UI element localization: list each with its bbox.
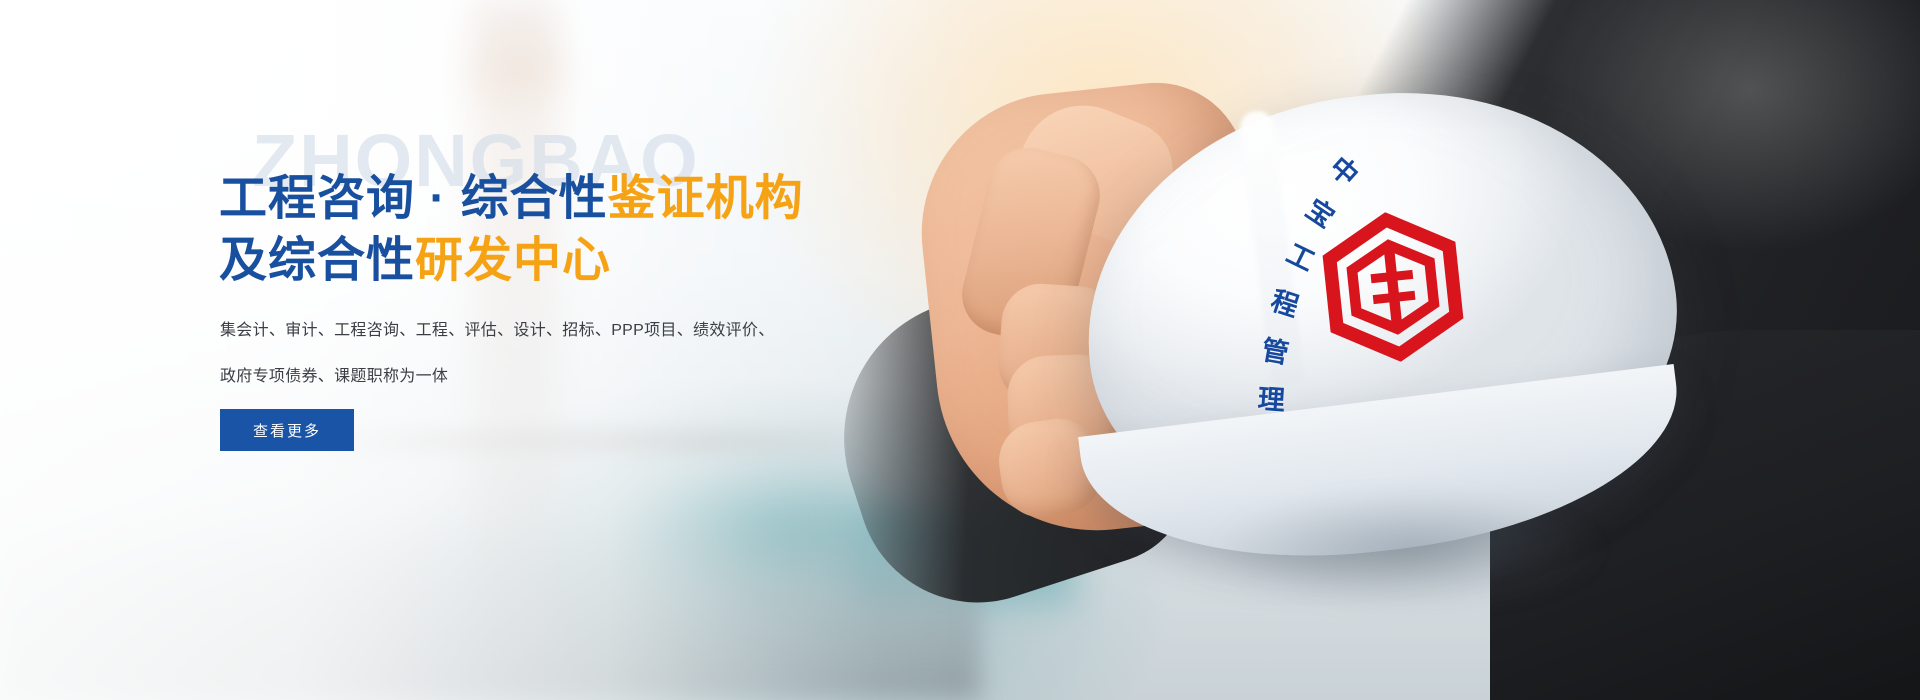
headline-line-1: 工程咨询 · 综合性鉴证机构 (219, 168, 804, 230)
headline-line-1-orange: 鉴证机构 (608, 172, 804, 225)
zhongbao-hexagon-logo-icon (1311, 205, 1476, 370)
helmet-shadow (1150, 470, 1670, 630)
page-title: 工程咨询 · 综合性鉴证机构 及综合性研发中心 (219, 168, 804, 292)
view-more-button[interactable]: 查看更多 (220, 409, 354, 451)
hero-content: ZHONGBAO 工程咨询 · 综合性鉴证机构 及综合性研发中心 集会计、审计、… (219, 0, 1039, 700)
hero-banner: 中 宝 工 程 管 理 ZHONGBAO 工程咨询 · 综合性鉴证机构 及综合性… (0, 0, 1920, 700)
headline-line-2-orange: 研发中心 (415, 234, 611, 287)
headline-line-1-blue: 工程咨询 · 综合性 (219, 172, 608, 225)
description-line-1: 集会计、审计、工程咨询、工程、评估、设计、招标、PPP项目、绩效评价、 (220, 308, 820, 354)
helmet-char-3: 程 (1267, 279, 1305, 324)
headline-line-2: 及综合性研发中心 (219, 230, 804, 292)
headline-line-2-blue: 及综合性 (219, 234, 415, 287)
description-line-2: 政府专项债券、课题职称为一体 (220, 354, 820, 400)
helmet-char-4: 管 (1259, 328, 1292, 371)
hero-description: 集会计、审计、工程咨询、工程、评估、设计、招标、PPP项目、绩效评价、 政府专项… (220, 308, 820, 400)
helmet-char-5: 理 (1257, 377, 1287, 418)
